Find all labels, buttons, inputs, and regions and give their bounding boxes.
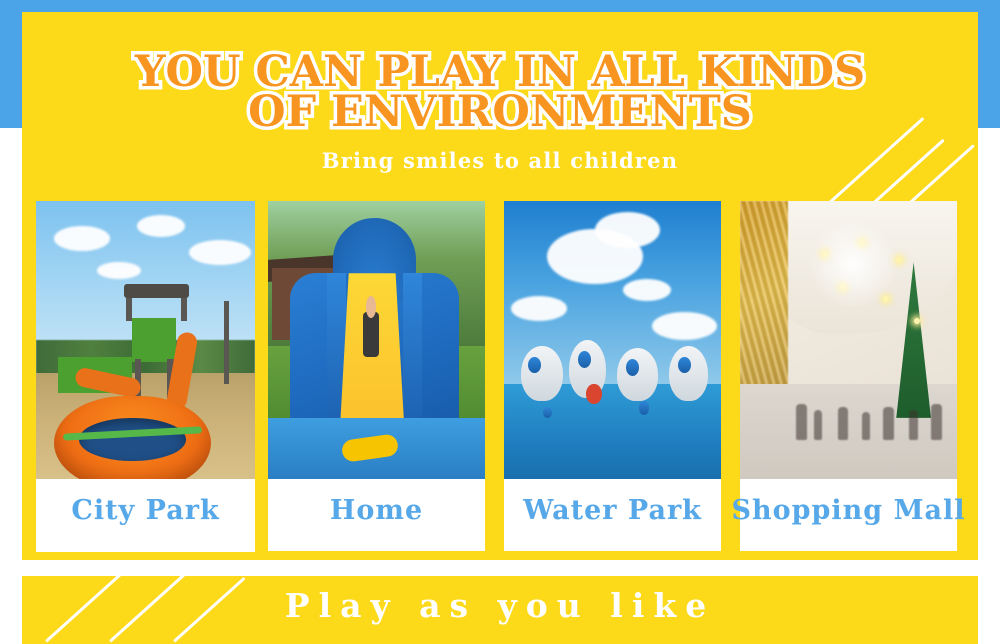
- card-home[interactable]: Home: [268, 201, 485, 551]
- page-subtitle: Bring smiles to all children: [22, 148, 978, 173]
- card-image-shopping-mall: [740, 201, 957, 479]
- card-shopping-mall[interactable]: Shopping Mall: [740, 201, 957, 551]
- card-label-city-park: City Park: [36, 479, 255, 541]
- card-water-park[interactable]: Water Park: [504, 201, 721, 551]
- card-city-park[interactable]: City Park: [36, 201, 255, 552]
- card-label-water-park: Water Park: [504, 479, 721, 541]
- poster-canvas: YOU CAN PLAY IN ALL KINDS OF ENVIRONMENT…: [0, 0, 1000, 644]
- card-label-shopping-mall: Shopping Mall: [740, 479, 957, 541]
- card-image-city-park: [36, 201, 255, 479]
- main-yellow-panel: YOU CAN PLAY IN ALL KINDS OF ENVIRONMENT…: [22, 12, 978, 560]
- card-image-home: [268, 201, 485, 479]
- card-label-home: Home: [268, 479, 485, 541]
- card-image-water-park: [504, 201, 721, 479]
- page-headline: YOU CAN PLAY IN ALL KINDS OF ENVIRONMENT…: [22, 52, 978, 132]
- bottom-caption: Play as you like: [0, 586, 1000, 625]
